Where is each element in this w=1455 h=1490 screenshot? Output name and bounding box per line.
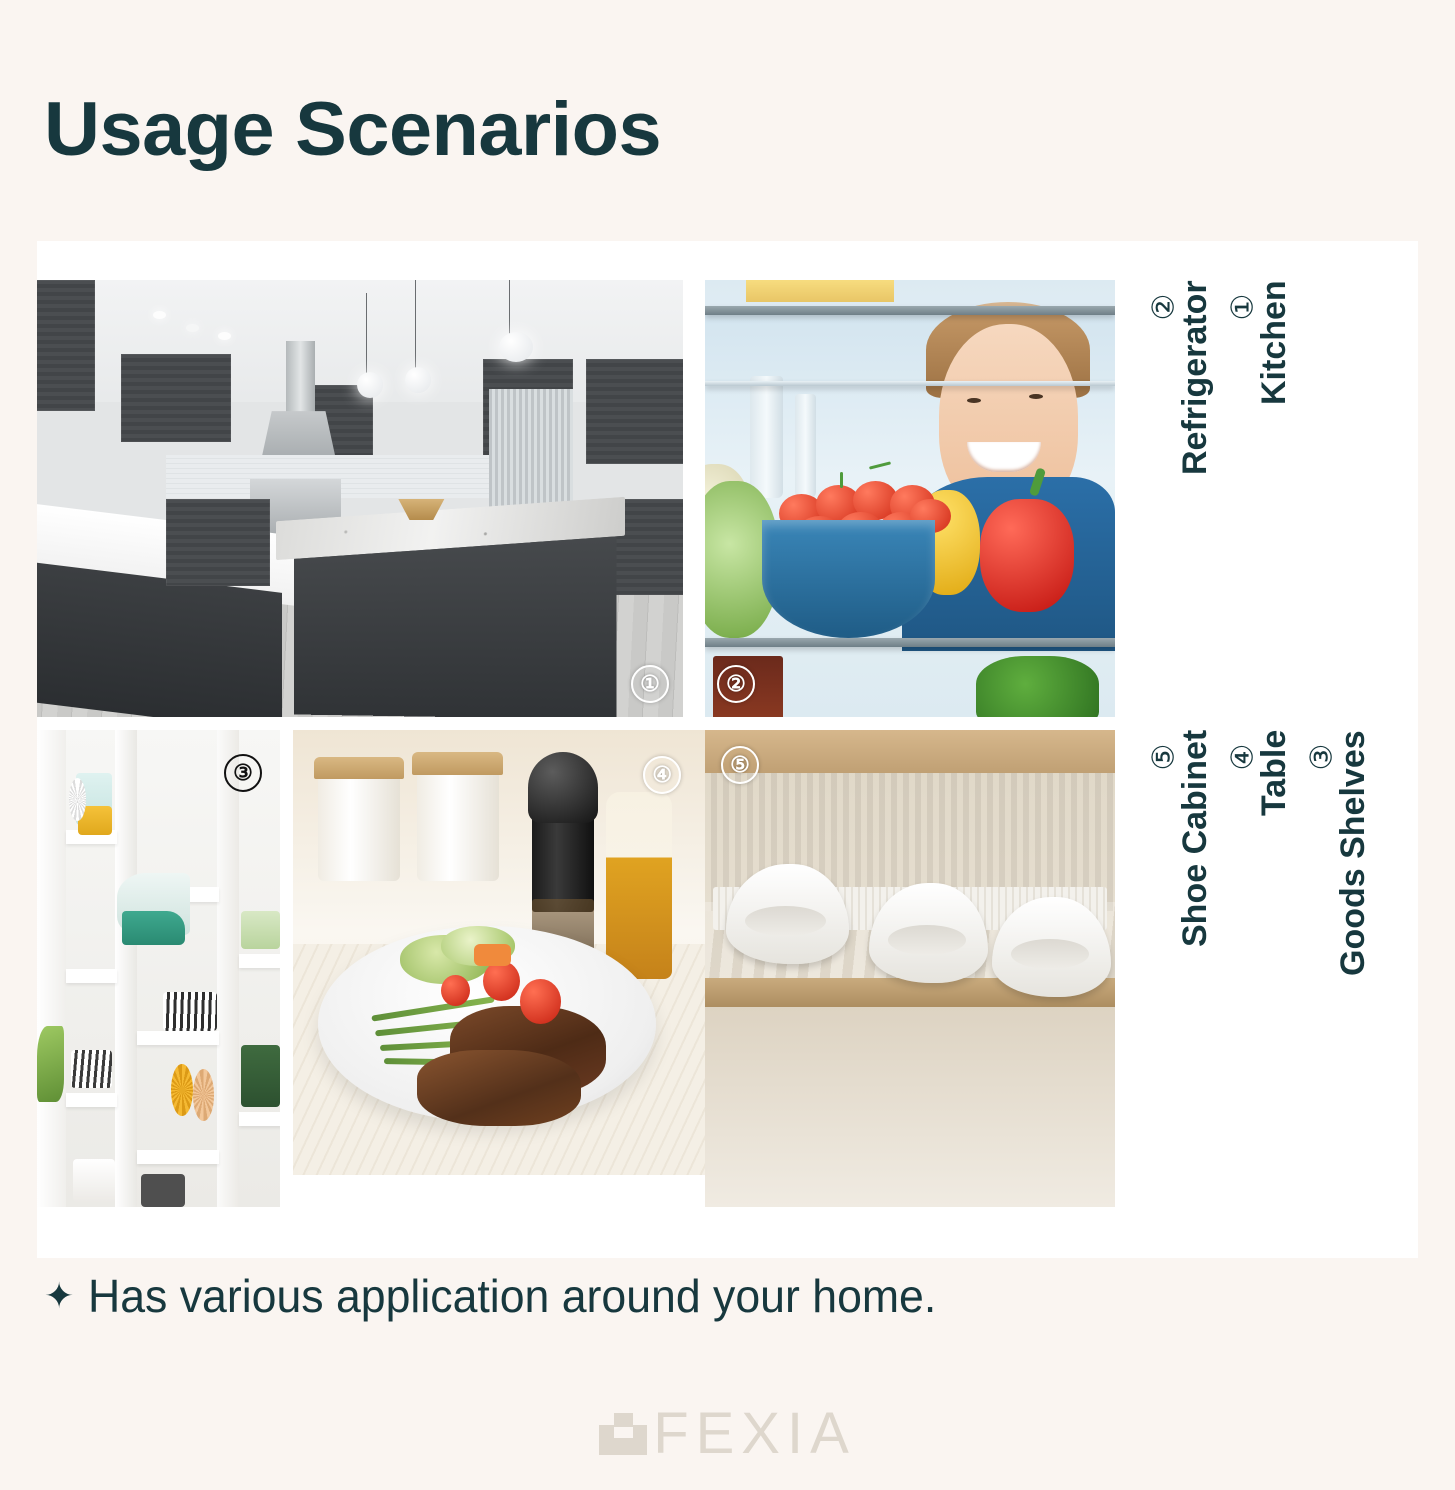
photo-badge-3: ③	[224, 754, 262, 792]
top-row-labels: ① Kitchen ② Refrigerator	[1133, 280, 1291, 717]
kitchen-scene	[37, 280, 683, 717]
scenario-text-goods-shelves: Goods Shelves	[1336, 730, 1370, 976]
scenario-number-3: ③	[1307, 744, 1337, 771]
photo-badge-4: ④	[643, 756, 681, 794]
scenario-label-refrigerator: ② Refrigerator	[1151, 280, 1212, 717]
scenario-label-goods-shelves: ③ Goods Shelves	[1309, 730, 1370, 1207]
scenario-number-2: ②	[1149, 294, 1179, 321]
scenario-number-1: ①	[1228, 294, 1258, 321]
brand-name: FEXIA	[653, 1405, 856, 1463]
footer-logo: FEXIA	[0, 1405, 1455, 1463]
scenario-text-kitchen: Kitchen	[1257, 280, 1291, 405]
scenario-number-5: ⑤	[1149, 744, 1179, 771]
scenario-label-table: ④ Table	[1230, 730, 1291, 1207]
scenarios-card: ①	[37, 241, 1418, 1258]
photo-badge-5: ⑤	[721, 746, 759, 784]
photo-badge-1: ①	[631, 665, 669, 703]
photo-badge-2: ②	[717, 665, 755, 703]
scenario-number-4: ④	[1228, 744, 1258, 771]
caption: ✦ Has various application around your ho…	[44, 1272, 963, 1320]
goods-shelves-photo: ③	[37, 730, 280, 1207]
scenario-label-shoe-cabinet: ⑤ Shoe Cabinet	[1151, 730, 1212, 1207]
basket-icon	[599, 1413, 647, 1455]
caption-text: Has various application around your home…	[88, 1272, 936, 1320]
scenario-text-shoe-cabinet: Shoe Cabinet	[1178, 730, 1212, 947]
modern-kitchen-photo: ①	[37, 280, 683, 717]
bottom-row-labels: ③ Goods Shelves ④ Table ⑤ Shoe Cabinet	[1133, 730, 1370, 1207]
refrigerator-photo: ②	[705, 280, 1115, 717]
table-photo: ④	[293, 730, 705, 1175]
sparkle-icon: ✦	[44, 1278, 74, 1314]
shoe-cabinet-photo: ⑤	[705, 730, 1115, 1207]
table-scene	[293, 730, 705, 1175]
scenario-text-table: Table	[1257, 730, 1291, 816]
page-title: Usage Scenarios	[44, 92, 661, 168]
scenario-text-refrigerator: Refrigerator	[1178, 280, 1212, 475]
scenario-label-kitchen: ① Kitchen	[1230, 280, 1291, 717]
goods-shelves-scene	[37, 730, 280, 1207]
refrigerator-scene	[705, 280, 1115, 717]
shoe-cabinet-scene	[705, 730, 1115, 1207]
